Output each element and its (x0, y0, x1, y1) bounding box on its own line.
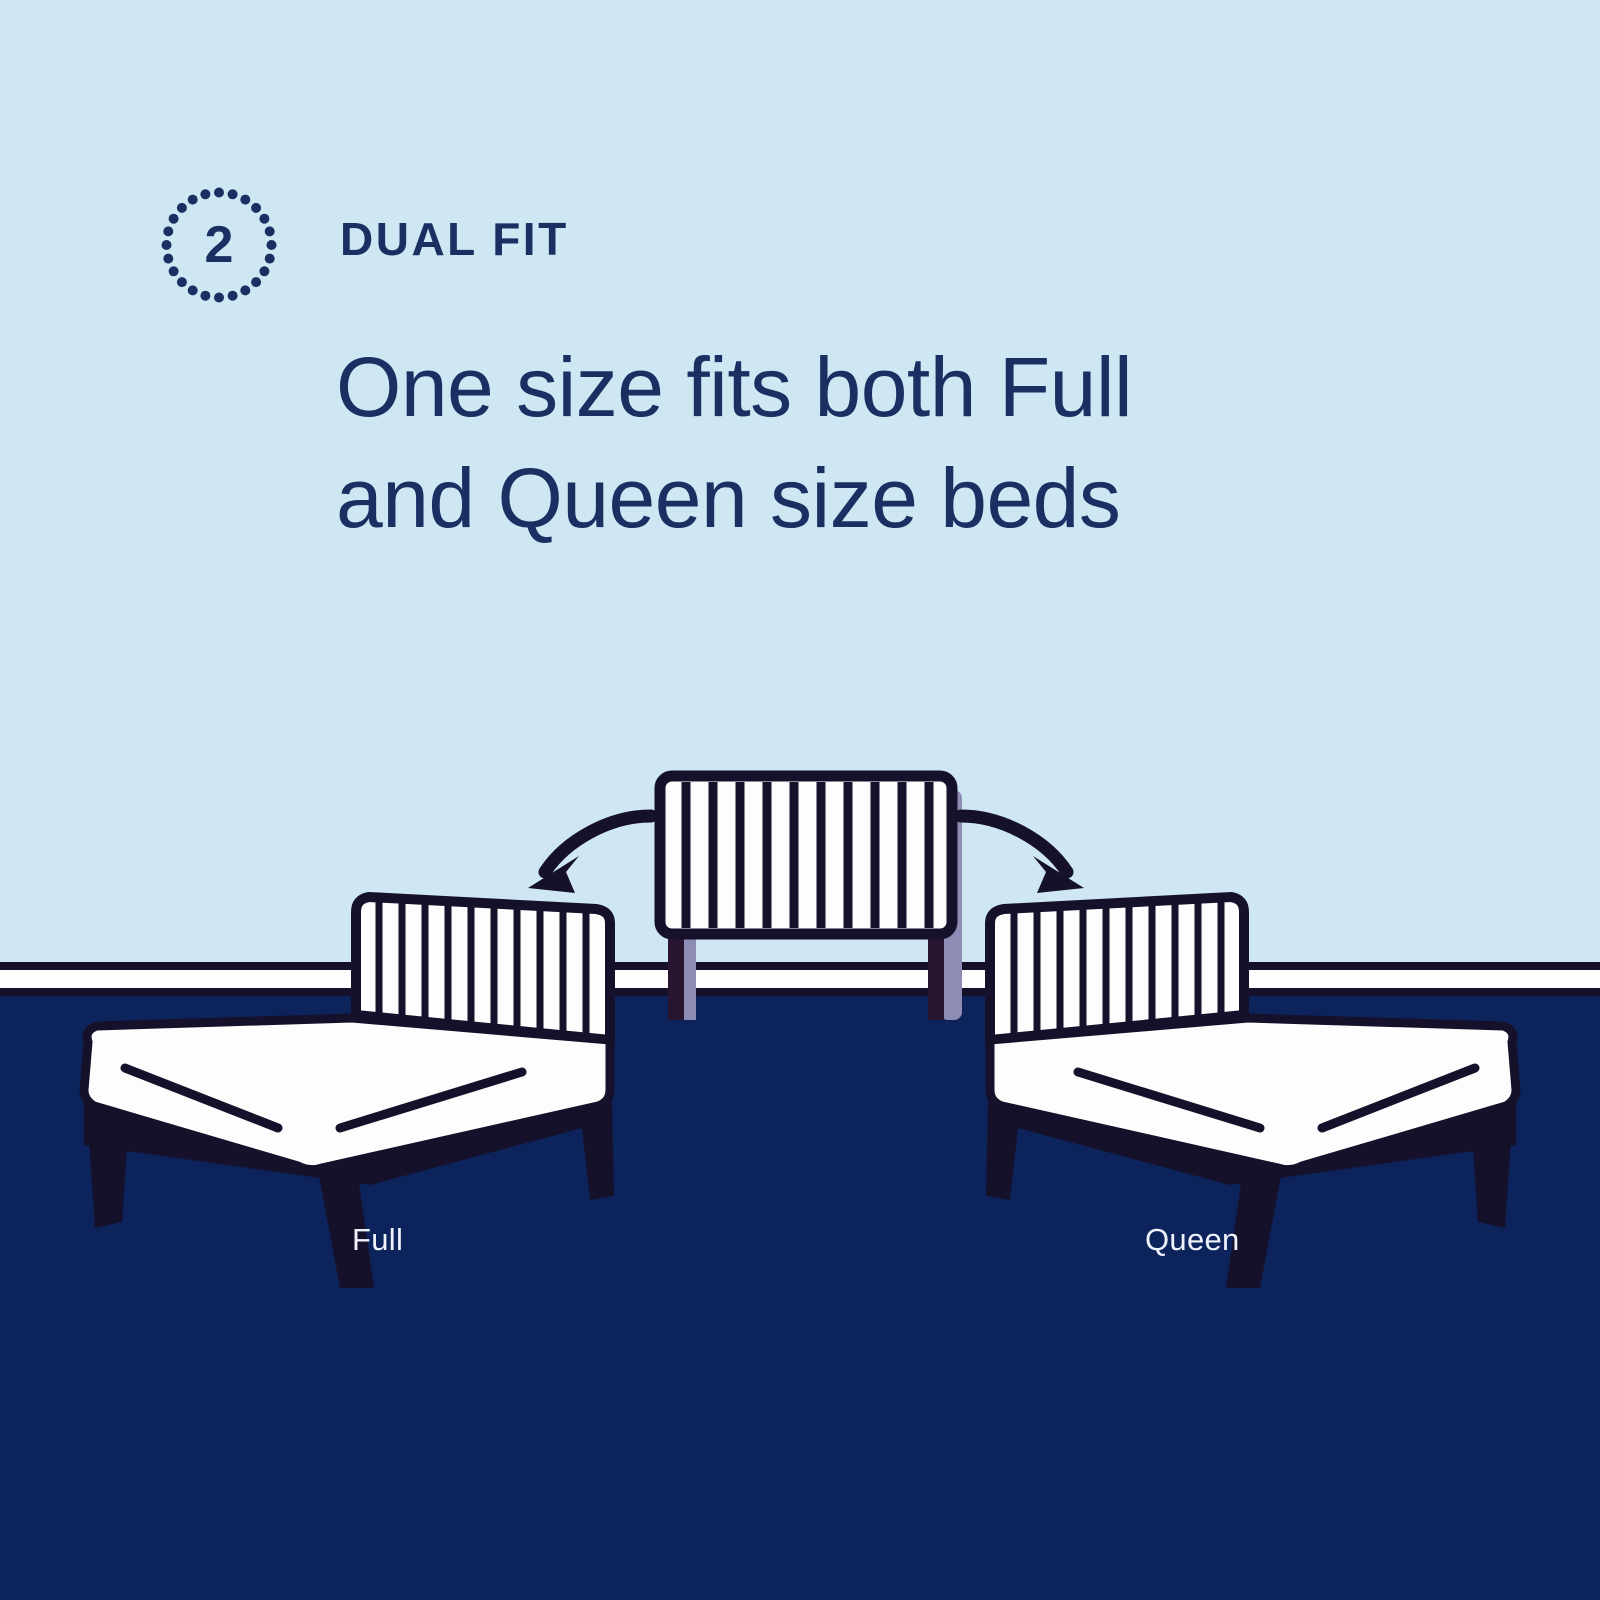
full-bed-caption: Full (352, 1222, 403, 1258)
headboard-panel (660, 776, 952, 934)
headline-line-1: One size fits both Full (336, 332, 1486, 443)
baseboard-top-line (0, 962, 1600, 970)
infographic-canvas: 2 DUAL FIT One size fits both Full and Q… (0, 0, 1600, 1600)
page-title: One size fits both Full and Queen size b… (336, 332, 1486, 554)
full-bed-leg-front-left (88, 1125, 128, 1228)
queen-bed-leg-front-right (1472, 1125, 1512, 1228)
headboard-leg-shadow (684, 932, 696, 1020)
step-eyebrow-label: DUAL FIT (340, 212, 569, 266)
step-number: 2 (160, 186, 278, 304)
dotted-circle-icon: 2 (160, 186, 278, 304)
baseboard (0, 968, 1600, 990)
headline-line-2: and Queen size beds (336, 443, 1486, 554)
step-header: 2 DUAL FIT (160, 186, 1420, 316)
queen-bed-caption: Queen (1145, 1222, 1240, 1258)
baseboard-bottom-line (0, 988, 1600, 996)
